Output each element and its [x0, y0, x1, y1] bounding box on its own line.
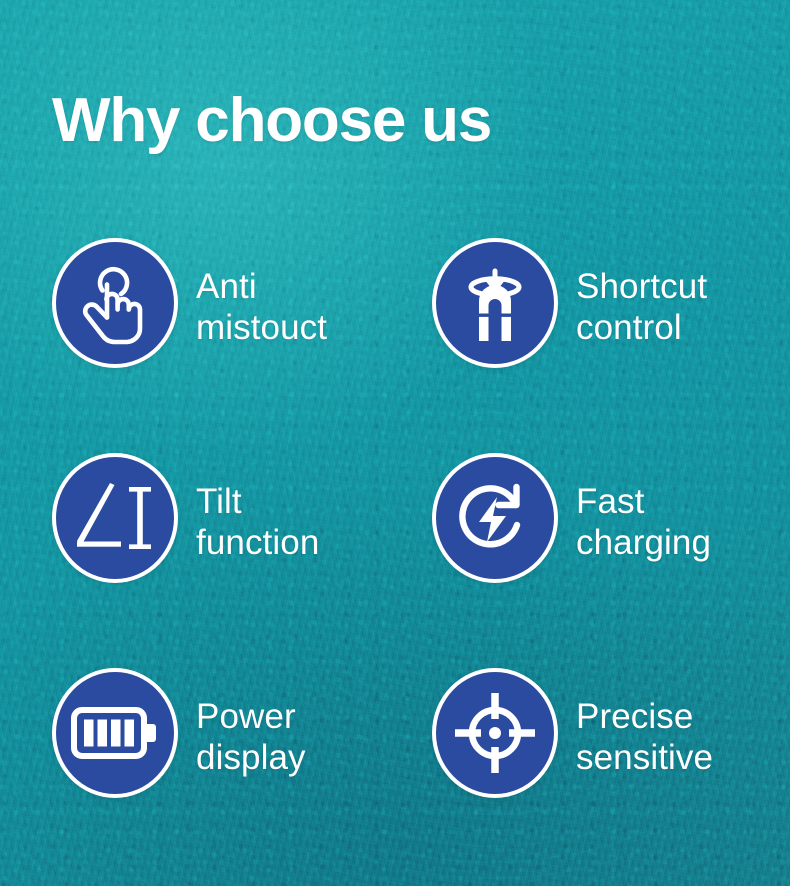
feature-grid: Anti mistouct Shortcut	[0, 238, 790, 883]
feature-label: Shortcut control	[576, 238, 707, 348]
feature-label-line1: Tilt	[196, 482, 242, 521]
fast-charging-glyph	[453, 477, 537, 559]
crosshair-target-glyph	[453, 691, 537, 775]
feature-label: Power display	[196, 668, 306, 778]
feature-label-line2: charging	[576, 522, 711, 563]
feature-label-line2: display	[196, 737, 306, 778]
feature-label-line1: Precise	[576, 697, 693, 736]
feature-label-line2: mistouct	[196, 307, 327, 348]
fast-charging-icon	[432, 453, 558, 583]
feature-label: Precise sensitive	[576, 668, 713, 778]
why-choose-us-banner: Why choose us Anti mistouct	[0, 0, 790, 886]
feature-precise-sensitive: Precise sensitive	[432, 668, 790, 883]
feature-tilt-function: Tilt function	[52, 453, 432, 668]
shortcut-control-icon	[432, 238, 558, 368]
feature-label-line2: sensitive	[576, 737, 713, 778]
feature-label-line1: Shortcut	[576, 267, 707, 306]
feature-fast-charging: Fast charging	[432, 453, 790, 668]
feature-label-line1: Anti	[196, 267, 257, 306]
feature-label: Tilt function	[196, 453, 319, 563]
page-title: Why choose us	[52, 86, 491, 156]
feature-label: Fast charging	[576, 453, 711, 563]
battery-icon	[52, 668, 178, 798]
crosshair-target-icon	[432, 668, 558, 798]
shortcut-control-glyph	[454, 259, 536, 347]
feature-label-line2: function	[196, 522, 319, 563]
feature-shortcut-control: Shortcut control	[432, 238, 790, 453]
battery-glyph	[71, 707, 159, 759]
feature-anti-mistouct: Anti mistouct	[52, 238, 432, 453]
tilt-angle-icon	[52, 453, 178, 583]
touch-hand-glyph	[75, 260, 155, 346]
tilt-angle-glyph	[72, 479, 158, 557]
feature-label-line1: Power	[196, 697, 296, 736]
touch-hand-icon	[52, 238, 178, 368]
feature-label-line1: Fast	[576, 482, 644, 521]
feature-label-line2: control	[576, 307, 707, 348]
feature-label: Anti mistouct	[196, 238, 327, 348]
feature-power-display: Power display	[52, 668, 432, 883]
